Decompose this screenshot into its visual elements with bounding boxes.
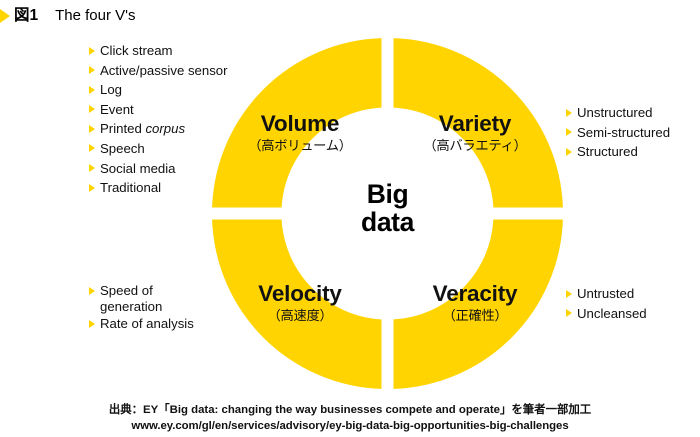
triangle-right-icon [566, 148, 572, 156]
quadrant-title-ja: （正確性） [400, 306, 550, 325]
figure-title: 図1 The four V's [0, 3, 136, 25]
triangle-right-icon [89, 86, 95, 94]
list-item: Active/passive sensor [89, 61, 228, 81]
list-item-label: Unstructured [577, 103, 653, 123]
list-item: Uncleansed [566, 304, 647, 324]
list-item-label: Speech [100, 139, 145, 159]
center-label-line1: Big [322, 180, 453, 208]
triangle-right-icon [89, 125, 95, 133]
list-variety-types: Unstructured Semi-structured Structured [566, 103, 670, 162]
triangle-right-icon [89, 105, 95, 113]
quadrant-title-en: Veracity [400, 281, 550, 306]
list-item-label: Traditional [100, 178, 161, 198]
source-line-1: 出典：EY「Big data: changing the way busines… [0, 403, 700, 419]
list-volume-sources: Click stream Active/passive sensor Log E… [89, 41, 228, 198]
list-item: Social media [89, 159, 228, 179]
list-item-label-emphasis: corpus [145, 121, 185, 136]
quadrant-title-ja: （高速度） [225, 306, 375, 325]
list-item-label: Click stream [100, 41, 173, 61]
list-item: Structured [566, 142, 670, 162]
triangle-right-icon [89, 66, 95, 74]
list-item: Unstructured [566, 103, 670, 123]
quadrant-title-en: Variety [400, 111, 550, 136]
triangle-right-icon [566, 128, 572, 136]
list-item: Click stream [89, 41, 228, 61]
list-item: Speech [89, 139, 228, 159]
list-item-label: Uncleansed [577, 304, 647, 324]
donut-center-label: Big data [322, 180, 453, 236]
list-item: Traditional [89, 178, 228, 198]
list-item-label: Speed of generation [100, 283, 162, 314]
triangle-right-icon [566, 109, 572, 117]
quadrant-title-en: Velocity [225, 281, 375, 306]
triangle-right-icon [566, 290, 572, 298]
list-item: Printed corpus [89, 119, 228, 139]
list-item: Rate of analysis [89, 314, 194, 334]
triangle-right-icon [566, 309, 572, 317]
triangle-right-icon [0, 9, 10, 23]
quadrant-title-en: Volume [225, 111, 375, 136]
four-vs-donut-diagram: Volume （高ボリューム） Variety （高バラエティ） Velocit… [212, 38, 563, 389]
figure-number: 図1 [14, 3, 38, 25]
triangle-right-icon [89, 287, 95, 295]
source-note: 出典：EY「Big data: changing the way busines… [0, 403, 700, 435]
list-item-label: Log [100, 80, 122, 100]
list-item-label: Untrusted [577, 284, 634, 304]
triangle-right-icon [89, 164, 95, 172]
quadrant-label-variety: Variety （高バラエティ） [400, 111, 550, 155]
list-item: Semi-structured [566, 123, 670, 143]
list-item-label-head: Printed [100, 121, 145, 136]
triangle-right-icon [89, 320, 95, 328]
quadrant-label-volume: Volume （高ボリューム） [225, 111, 375, 155]
center-label-line2: data [322, 208, 453, 236]
list-item-label: Social media [100, 159, 176, 179]
list-item: Log [89, 80, 228, 100]
list-velocity-aspects: Speed of generation Rate of analysis [89, 283, 194, 334]
triangle-right-icon [89, 47, 95, 55]
quadrant-title-ja: （高ボリューム） [225, 136, 375, 155]
quadrant-title-ja: （高バラエティ） [400, 136, 550, 155]
list-item-label: Rate of analysis [100, 314, 194, 334]
list-item-label: Event [100, 100, 134, 120]
triangle-right-icon [89, 184, 95, 192]
list-item-label: Active/passive sensor [100, 61, 228, 81]
quadrant-label-velocity: Velocity （高速度） [225, 281, 375, 325]
list-item: Event [89, 100, 228, 120]
list-item-label: Semi-structured [577, 123, 670, 143]
list-item: Speed of generation [89, 283, 194, 314]
source-line-2: www.ey.com/gl/en/services/advisory/ey-bi… [0, 419, 700, 435]
list-item: Untrusted [566, 284, 647, 304]
list-item-label: Structured [577, 142, 638, 162]
quadrant-label-veracity: Veracity （正確性） [400, 281, 550, 325]
list-veracity-aspects: Untrusted Uncleansed [566, 284, 647, 323]
triangle-right-icon [89, 144, 95, 152]
list-item-label: Printed corpus [100, 119, 185, 139]
figure-title-text: The four V's [55, 7, 135, 24]
